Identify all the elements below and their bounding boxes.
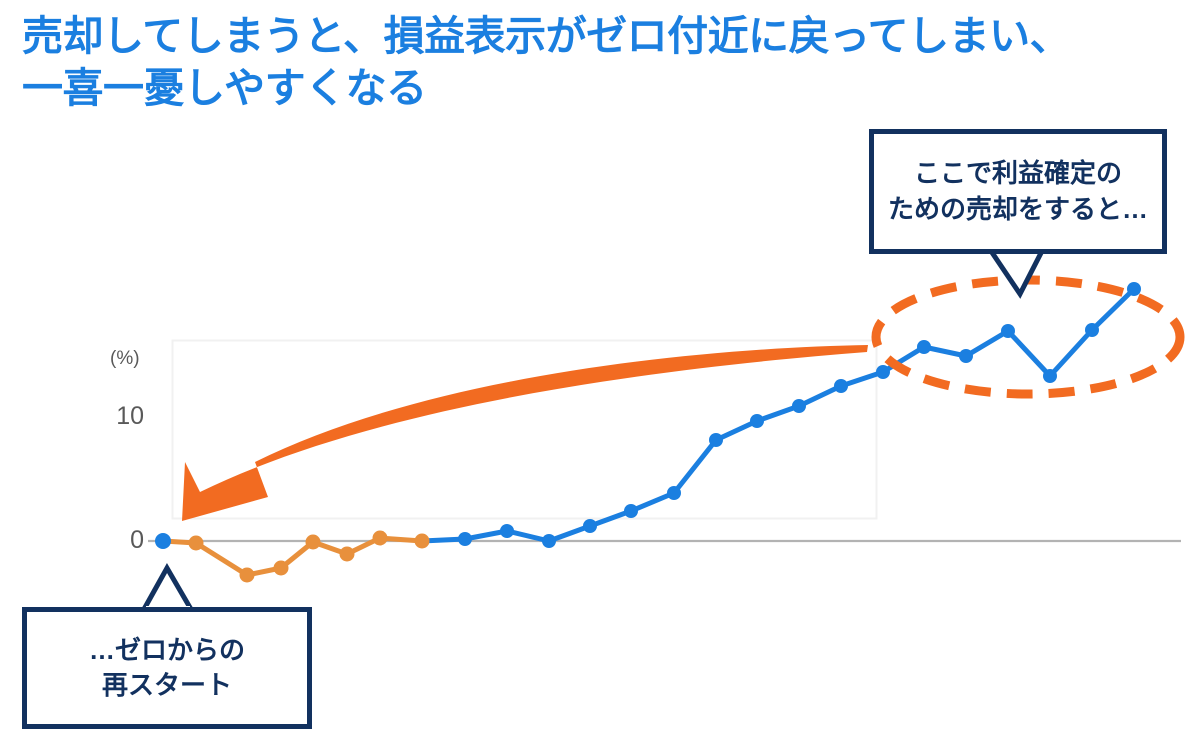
y-axis-unit-label: (%) — [110, 348, 140, 370]
callout-top-line2: ための売却をすると… — [888, 192, 1148, 227]
callout-restart-from-zero: …ゼロからの 再スタート — [22, 607, 312, 729]
highlight-ellipse — [876, 280, 1180, 394]
slide-canvas: 売却してしまうと、損益表示がゼロ付近に戻ってしまい、一喜一憂しやすくなる — [0, 0, 1200, 741]
plot-area-border — [173, 341, 877, 519]
callout-top-line1: ここで利益確定の — [914, 156, 1122, 191]
callout-take-profit: ここで利益確定の ための売却をすると… — [869, 129, 1167, 254]
callout-bottom-line1: …ゼロからの — [89, 633, 245, 668]
callout-bottom-line2: 再スタート — [102, 668, 232, 703]
y-tick-10: 10 — [96, 402, 144, 431]
y-tick-0: 0 — [96, 526, 144, 555]
callout-top-tail — [991, 247, 1042, 294]
